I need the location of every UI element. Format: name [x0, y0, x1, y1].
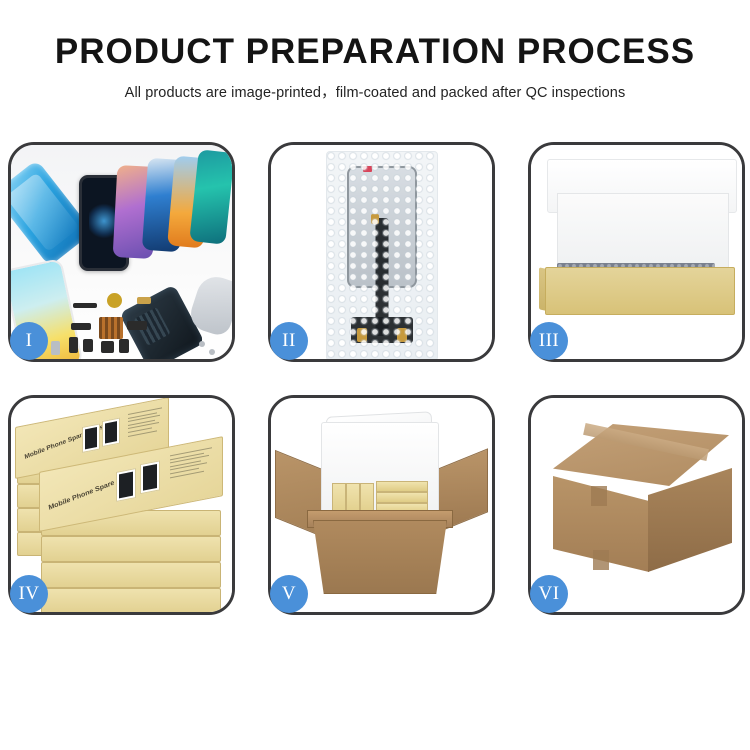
sim-tray-part — [51, 341, 60, 355]
camera-part — [119, 339, 129, 353]
gold-contact-a — [357, 328, 367, 342]
stacked-box-r4 — [41, 588, 221, 612]
step-badge-5: V — [270, 575, 308, 613]
retail-box-5 — [376, 492, 428, 503]
flex-cable-part-b — [71, 323, 91, 330]
stacked-box-r2 — [41, 536, 221, 562]
process-step-2: II — [268, 142, 495, 362]
step-badge-1: I — [10, 322, 48, 360]
step-badge-3: III — [530, 322, 568, 360]
box-window-second-b — [140, 460, 160, 494]
button-part — [83, 339, 93, 352]
page-subtitle: All products are image-printed，film-coat… — [0, 81, 750, 102]
box-window-top-b — [102, 418, 120, 447]
speaker-part — [101, 341, 114, 353]
vibrator-part — [69, 337, 78, 353]
process-step-grid: I II — [8, 142, 745, 615]
process-step-5: V — [268, 395, 495, 615]
screw-part-b — [209, 349, 215, 355]
header: PRODUCT PREPARATION PROCESS All products… — [0, 0, 750, 102]
step-5-image — [271, 398, 492, 612]
earpiece-mesh-part — [73, 303, 97, 308]
page-title: PRODUCT PREPARATION PROCESS — [0, 34, 750, 71]
product-preparation-infographic: PRODUCT PREPARATION PROCESS All products… — [0, 0, 750, 750]
foam-box-body — [321, 422, 439, 516]
process-step-4: Mobile Phone Spare Parts Mobile Phone Sp… — [8, 395, 235, 615]
box-spec-lines-top — [128, 407, 162, 439]
carton-tab-bottom — [593, 550, 609, 570]
box-window-top-a — [82, 423, 100, 452]
box-spec-lines-second — [170, 447, 212, 480]
process-step-1: I — [8, 142, 235, 362]
step-badge-6: VI — [530, 575, 568, 613]
process-step-3: III — [528, 142, 745, 362]
gold-contact-c — [371, 214, 379, 224]
flex-cable-part-c — [127, 321, 147, 330]
connector-grid-part — [99, 317, 123, 339]
step-4-image: Mobile Phone Spare Parts Mobile Phone Sp… — [11, 398, 232, 612]
box-window-second-a — [116, 468, 136, 502]
flex-cable-part-a — [137, 297, 151, 304]
bubble-wrap-bag — [326, 151, 438, 359]
step-1-image — [11, 145, 232, 359]
kraft-tray-body — [545, 267, 735, 315]
stacked-box-r3 — [41, 562, 221, 588]
carton-body — [313, 520, 447, 594]
retail-box-4 — [376, 481, 428, 492]
carton-tab-top — [591, 486, 607, 506]
process-step-6: VI — [528, 395, 745, 615]
gold-coil-part — [107, 293, 122, 308]
gold-contact-b — [397, 328, 407, 342]
screw-part-a — [199, 341, 205, 347]
step-badge-2: II — [270, 322, 308, 360]
step-badge-4: IV — [10, 575, 48, 613]
red-label-mark — [363, 166, 372, 172]
step-2-image — [271, 145, 492, 359]
